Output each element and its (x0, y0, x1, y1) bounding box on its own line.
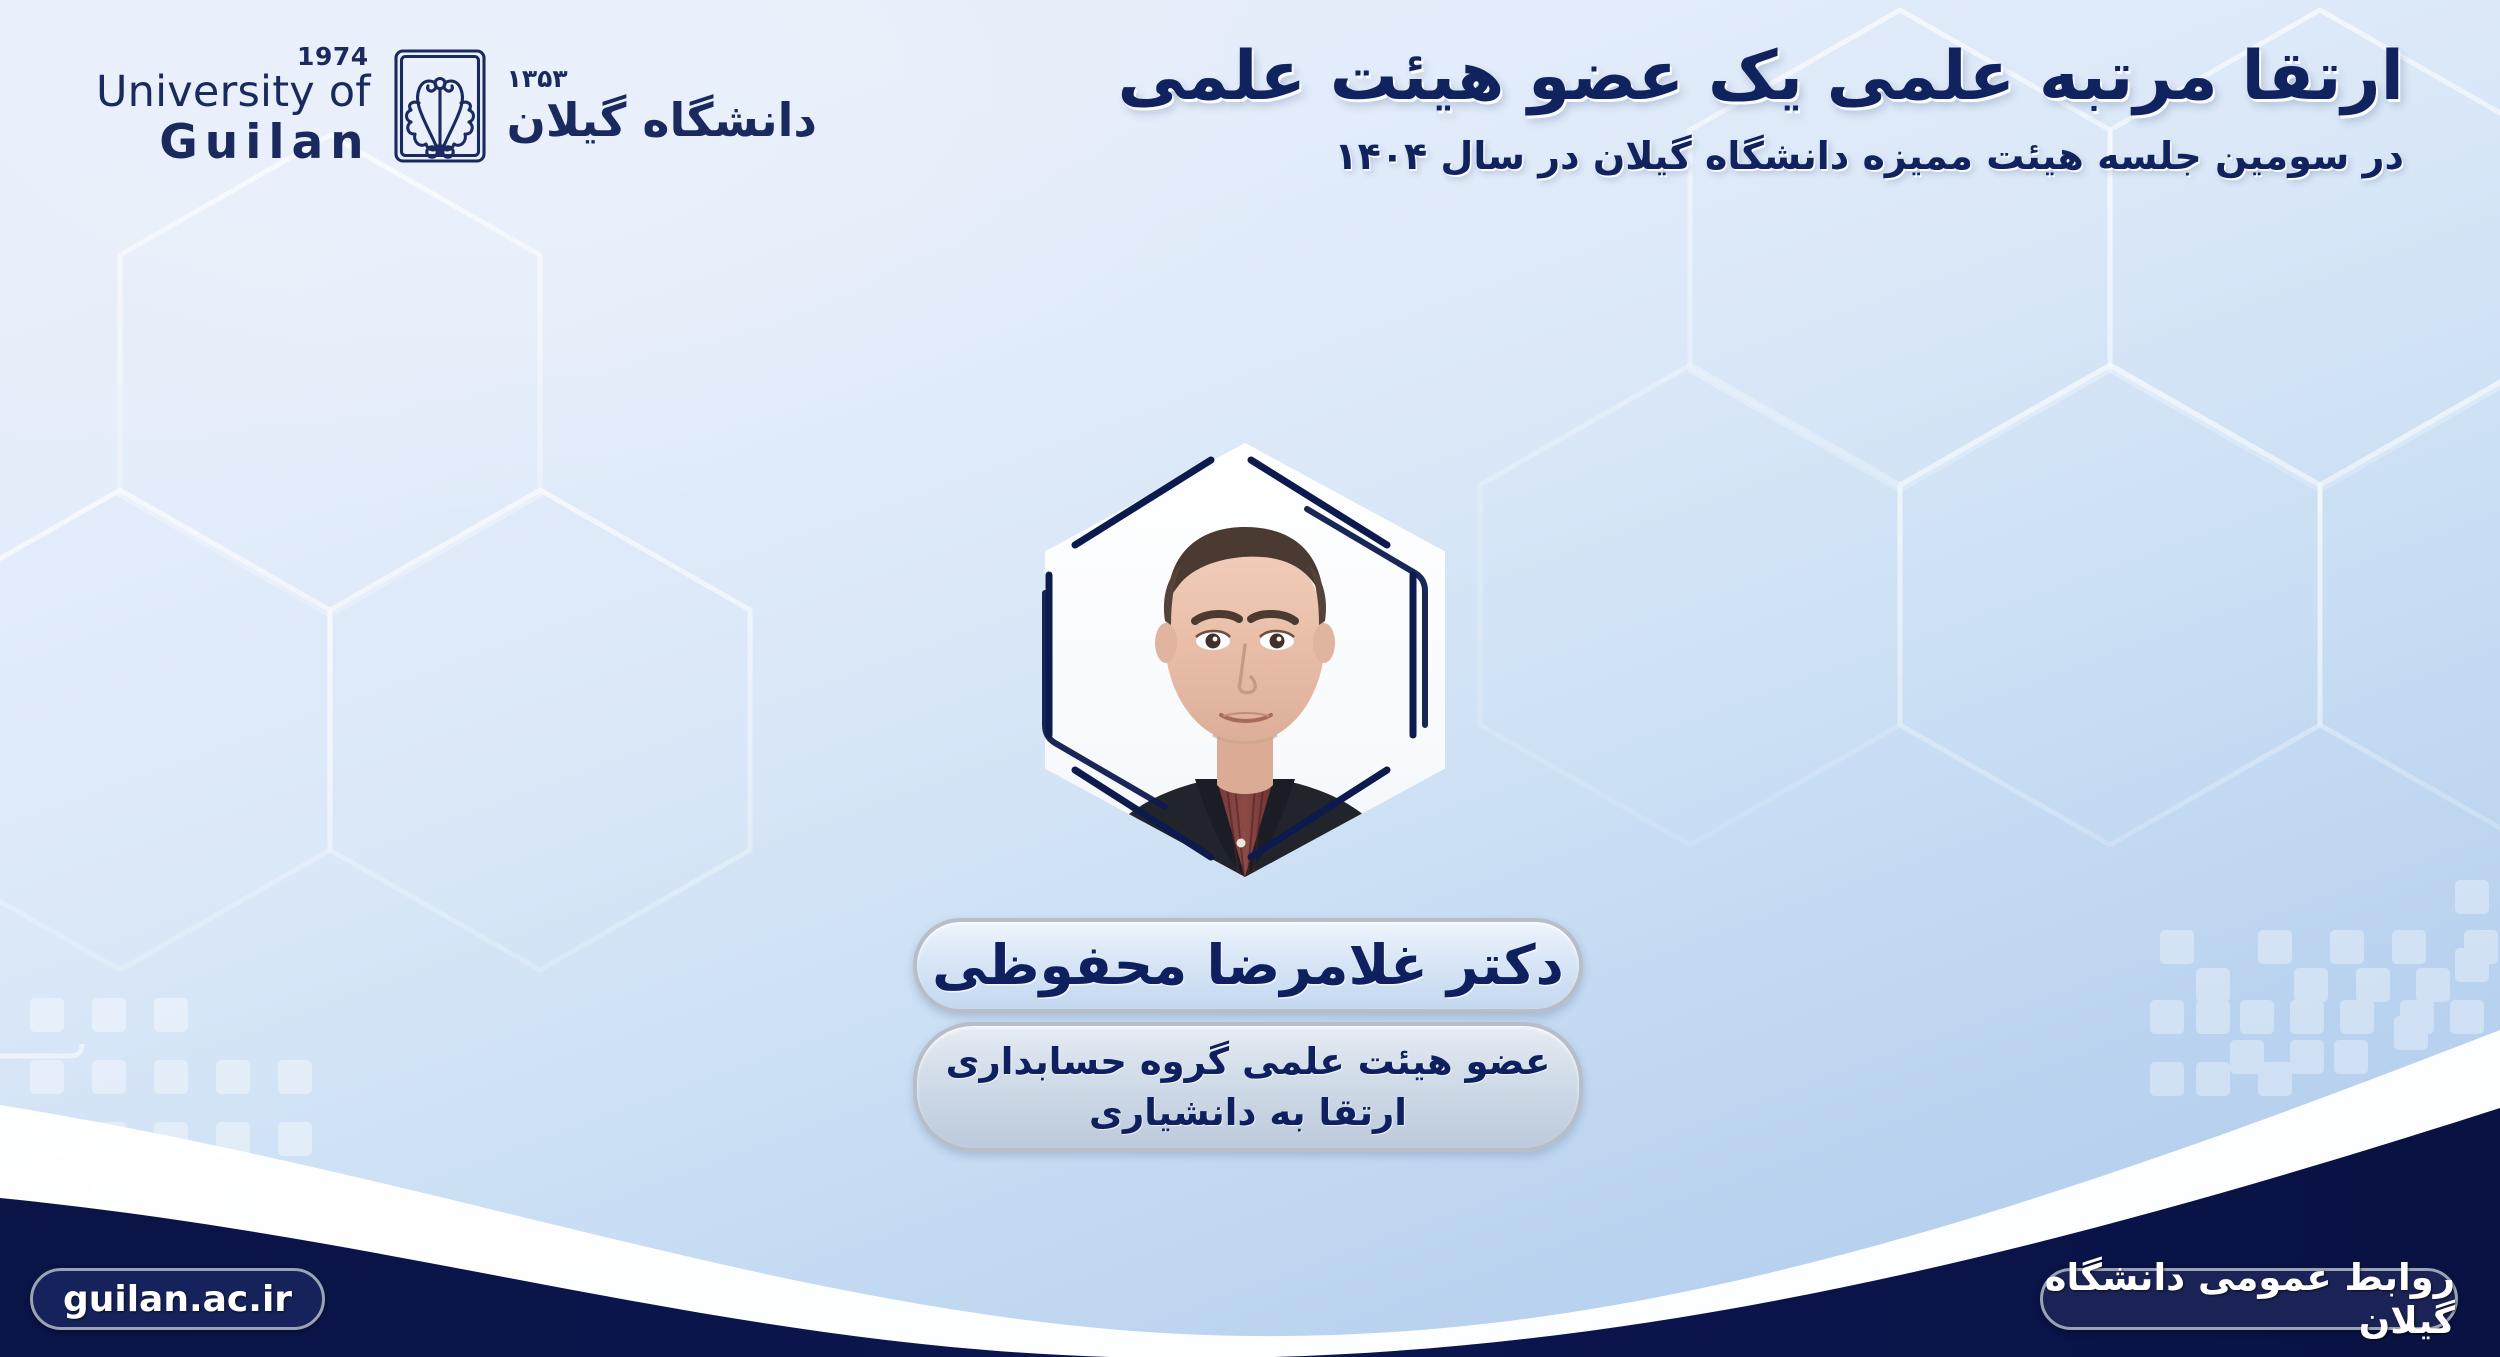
person-promotion: ارتقا به دانشیاری (1089, 1089, 1407, 1136)
person-description-badge: عضو هیئت علمی گروه حسابداری ارتقا به دان… (913, 1022, 1583, 1152)
poster-canvas: 1974 University of Guilan (0, 0, 2500, 1357)
person-name: دکتر غلامرضا محفوظی (932, 938, 1564, 993)
guilan-emblem-icon (387, 45, 493, 167)
public-relations-label: روابط عمومی دانشگاه گیلان (2043, 1256, 2455, 1342)
logo-year-en: 1974 (96, 44, 369, 69)
logo-guilan: Guilan (96, 117, 371, 169)
page-title: ارتقا مرتبه علمی یک عضو هیئت علمی (1117, 34, 2404, 119)
website-badge[interactable]: guilan.ac.ir (30, 1268, 325, 1330)
portrait-block (1015, 425, 1475, 895)
page-subtitle: در سومین جلسه هیئت ممیزه دانشگاه گیلان د… (1117, 131, 2404, 182)
person-name-badge: دکتر غلامرضا محفوظی (913, 918, 1583, 1013)
logo-name-fa: دانشگاه گیلان (507, 95, 817, 147)
poster-header: 1974 University of Guilan (0, 0, 2500, 300)
logo-persian-block: ۱۳۵۳ دانشگاه گیلان (499, 66, 817, 147)
logo-english-block: 1974 University of Guilan (96, 44, 381, 169)
website-url: guilan.ac.ir (63, 1279, 292, 1320)
logo-university-of: University of (96, 71, 371, 115)
person-affiliation: عضو هیئت علمی گروه حسابداری (946, 1038, 1551, 1085)
logo-year-fa: ۱۳۵۳ (507, 66, 817, 91)
university-logo: 1974 University of Guilan (96, 44, 817, 169)
title-block: ارتقا مرتبه علمی یک عضو هیئت علمی در سوم… (1117, 34, 2404, 182)
hexagon-frame-icon (1015, 425, 1475, 895)
public-relations-badge: روابط عمومی دانشگاه گیلان (2040, 1268, 2458, 1330)
